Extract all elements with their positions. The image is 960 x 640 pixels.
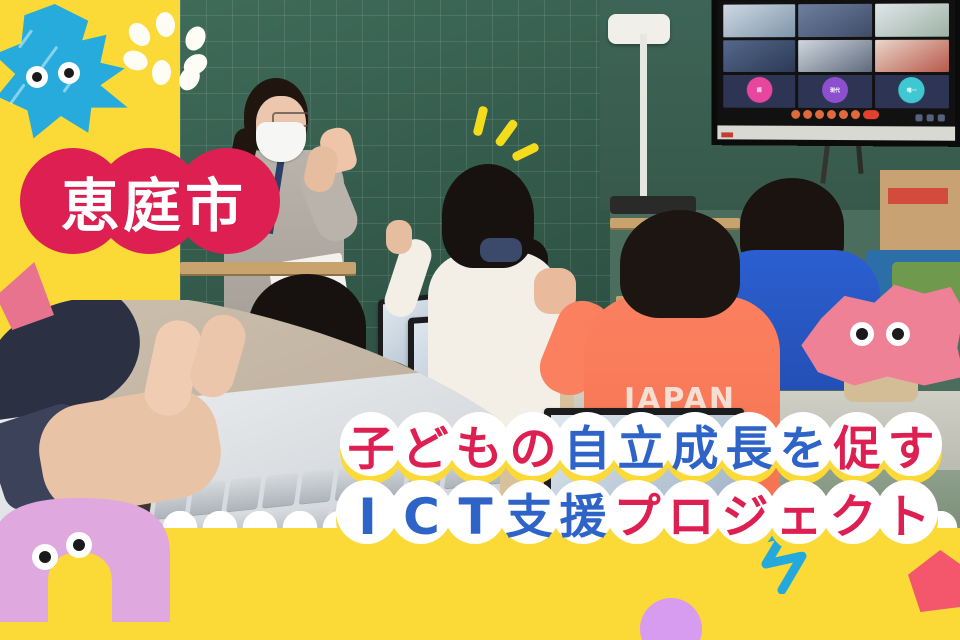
student-desk: [180, 262, 356, 274]
municipality-badge: 恵庭市: [20, 148, 288, 258]
title-char: 子: [340, 412, 402, 486]
display-bezel: [717, 125, 955, 140]
municipality-name: 恵庭市: [20, 148, 288, 254]
title-char: の: [502, 412, 564, 486]
title-char: を: [772, 412, 834, 486]
pink-cloud-mascot: [798, 278, 960, 390]
hangup-icon[interactable]: [863, 110, 879, 119]
pink-cloud-mascot-body: [798, 278, 960, 390]
power-led-icon: [721, 132, 733, 137]
title-char: す: [880, 412, 942, 486]
title-line-2: ICT支援プロジェクト: [0, 480, 960, 554]
share-icon[interactable]: [815, 109, 824, 118]
video-tile[interactable]: [798, 4, 871, 37]
title-char: ク: [822, 480, 884, 554]
title-char: C: [390, 480, 452, 554]
student-hair: [620, 210, 740, 318]
people-icon[interactable]: [927, 114, 934, 121]
title-char: ト: [876, 480, 938, 554]
title-char: I: [336, 480, 398, 554]
video-tile-grid: 師 現代 唯一: [723, 3, 949, 108]
hair-tie-icon: [480, 238, 522, 262]
video-conference-display[interactable]: 師 現代 唯一: [712, 0, 960, 147]
avatar: 現代: [822, 77, 848, 103]
student-hand: [386, 220, 412, 254]
banner-title: 子どもの自立成長を促す ICT支援プロジェクト: [0, 412, 960, 548]
title-char: 支: [498, 480, 560, 554]
more-icon[interactable]: [851, 110, 860, 119]
title-char: 立: [610, 412, 672, 486]
display-status-icons: [915, 114, 944, 121]
yellow-dot-shape: [256, 604, 286, 632]
title-char: ジ: [714, 480, 776, 554]
mascot-eye-icon: [58, 62, 80, 84]
video-tile[interactable]: [798, 40, 871, 73]
title-char: ど: [394, 412, 456, 486]
title-char: 長: [718, 412, 780, 486]
document-camera-pole: [640, 34, 647, 214]
avatar: 唯一: [899, 77, 925, 103]
title-char: 自: [556, 412, 618, 486]
title-char: T: [444, 480, 506, 554]
title-char: 促: [826, 412, 888, 486]
title-char: 援: [552, 480, 614, 554]
video-tile[interactable]: [723, 4, 795, 37]
title-line-1: 子どもの自立成長を促す: [0, 412, 960, 486]
title-char: ロ: [660, 480, 722, 554]
video-tile[interactable]: [723, 40, 795, 73]
avatar: 師: [746, 77, 772, 103]
window-icon[interactable]: [938, 114, 945, 121]
mascot-eye-icon: [26, 66, 48, 88]
banner-canvas: JAPAN 師 現代 唯一: [0, 0, 960, 640]
document-camera-icon: [608, 14, 670, 44]
video-tile[interactable]: [875, 3, 949, 36]
mascot-eye-icon: [850, 322, 874, 346]
participants-icon[interactable]: [827, 109, 836, 118]
camera-icon[interactable]: [803, 109, 812, 118]
title-char: も: [448, 412, 510, 486]
blue-star-mascot: [0, 4, 146, 144]
cardboard-box: [880, 170, 960, 252]
chat-icon[interactable]: [839, 110, 848, 119]
title-char: ェ: [768, 480, 830, 554]
box-tape: [888, 188, 948, 204]
mascot-eye-icon: [886, 322, 910, 346]
video-tile[interactable]: [875, 39, 949, 72]
mic-icon[interactable]: [791, 109, 800, 118]
title-char: 成: [664, 412, 726, 486]
gear-icon[interactable]: [915, 114, 922, 121]
title-char: プ: [606, 480, 668, 554]
white-petal-sparkle: [126, 12, 214, 88]
